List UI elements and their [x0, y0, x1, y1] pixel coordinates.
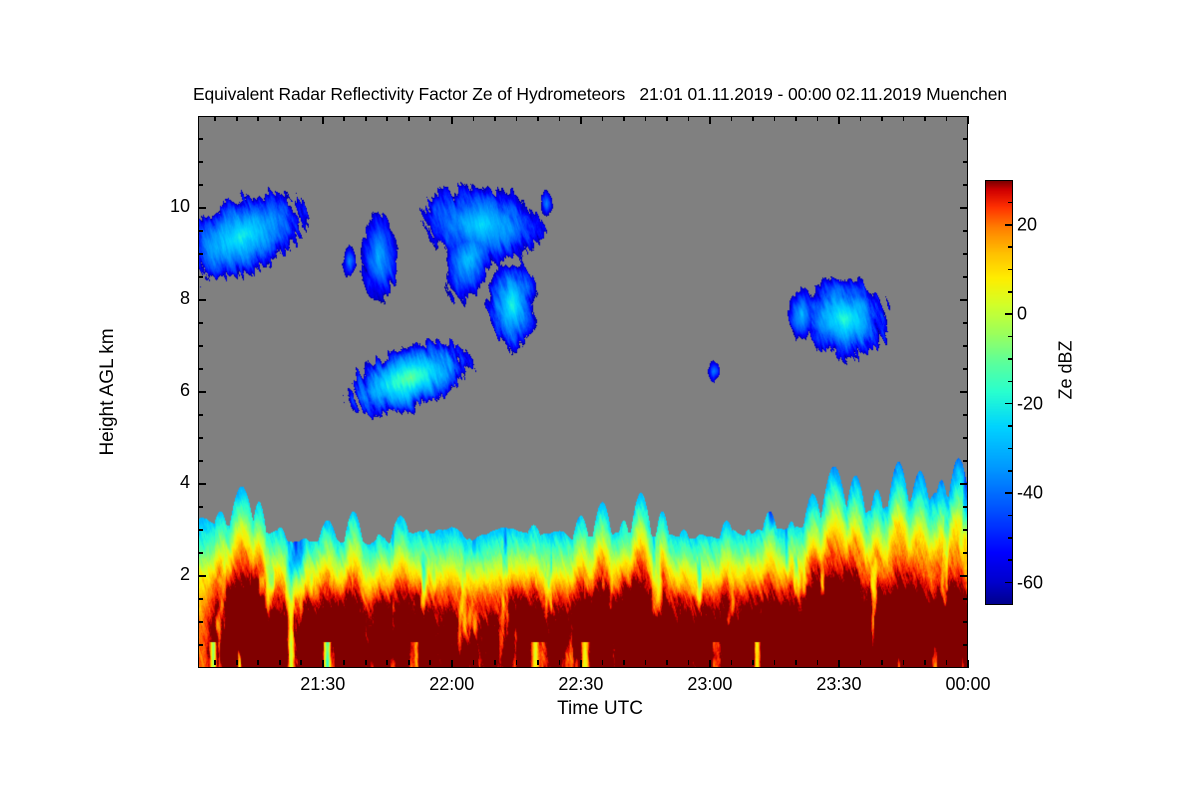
x-tick-minor [279, 660, 281, 665]
x-tick-minor-top [214, 116, 216, 121]
x-tick-major [709, 660, 711, 668]
y-tick-minor [198, 276, 203, 278]
x-tick-minor [688, 660, 690, 665]
colorbar-tick-minor [1008, 537, 1012, 539]
y-tick-major [198, 299, 206, 301]
x-tick-minor-top [752, 116, 754, 121]
y-tick-minor-right [963, 322, 968, 324]
x-tick-minor-top [494, 116, 496, 121]
y-tick-minor [198, 138, 203, 140]
x-tick-minor-top [666, 116, 668, 121]
colorbar-title: Ze dBZ [1056, 340, 1077, 399]
colorbar-tick-minor [1008, 202, 1012, 204]
y-tick-major-right [960, 575, 968, 577]
x-tick-minor-top [300, 116, 302, 121]
x-tick-minor [881, 660, 883, 665]
x-tick-major-top [322, 116, 324, 124]
x-tick-label: 23:30 [816, 674, 861, 695]
y-tick-major [198, 483, 206, 485]
y-tick-minor [198, 368, 203, 370]
x-tick-minor-top [386, 116, 388, 121]
x-tick-major-top [451, 116, 453, 124]
x-tick-minor-top [473, 116, 475, 121]
y-tick-minor-right [963, 230, 968, 232]
x-tick-minor [817, 660, 819, 665]
x-tick-major [580, 660, 582, 668]
x-tick-minor-top [408, 116, 410, 121]
y-tick-minor-right [963, 161, 968, 163]
y-tick-minor-right [963, 644, 968, 646]
x-tick-minor [774, 660, 776, 665]
y-tick-minor-right [963, 621, 968, 623]
x-tick-minor-top [645, 116, 647, 121]
x-tick-minor [559, 660, 561, 665]
colorbar-tick-label: -20 [1017, 393, 1043, 414]
y-tick-minor-right [963, 253, 968, 255]
x-tick-major-top [967, 116, 969, 124]
y-tick-major-right [960, 207, 968, 209]
x-axis-title: Time UTC [0, 698, 1200, 720]
x-tick-minor [429, 660, 431, 665]
y-tick-minor-right [963, 345, 968, 347]
x-tick-minor-top [817, 116, 819, 121]
y-tick-major-right [960, 391, 968, 393]
x-tick-major-top [838, 116, 840, 124]
x-tick-label: 00:00 [945, 674, 990, 695]
y-tick-minor-right [963, 184, 968, 186]
x-tick-minor [645, 660, 647, 665]
figure-root: Equivalent Radar Reflectivity Factor Ze … [0, 0, 1200, 800]
x-tick-minor [365, 660, 367, 665]
y-tick-minor [198, 529, 203, 531]
y-tick-minor [198, 322, 203, 324]
y-tick-major [198, 207, 206, 209]
x-tick-major-top [580, 116, 582, 124]
x-tick-minor-top [343, 116, 345, 121]
x-tick-minor-top [860, 116, 862, 121]
x-tick-minor-top [924, 116, 926, 121]
colorbar-tick-major [1005, 224, 1012, 226]
x-tick-minor-top [516, 116, 518, 121]
colorbar-tick-label: 20 [1017, 214, 1037, 235]
y-tick-minor [198, 437, 203, 439]
y-tick-minor [198, 460, 203, 462]
x-tick-major [322, 660, 324, 668]
colorbar-tick-minor [1008, 246, 1012, 248]
x-tick-minor-top [623, 116, 625, 121]
y-tick-minor [198, 230, 203, 232]
x-tick-minor [602, 660, 604, 665]
y-tick-minor-right [963, 460, 968, 462]
colorbar-tick-minor [1008, 448, 1012, 450]
x-tick-minor [666, 660, 668, 665]
colorbar-tick-minor [1008, 425, 1012, 427]
radar-heatmap-canvas [199, 117, 967, 667]
x-tick-minor [623, 660, 625, 665]
x-tick-major [967, 660, 969, 668]
colorbar-tick-minor [1008, 470, 1012, 472]
colorbar-tick-label: -60 [1017, 572, 1043, 593]
colorbar-gradient [986, 181, 1012, 604]
x-tick-minor-top [257, 116, 259, 121]
y-tick-minor [198, 644, 203, 646]
x-tick-minor-top [688, 116, 690, 121]
x-tick-minor-top [731, 116, 733, 121]
chart-title: Equivalent Radar Reflectivity Factor Ze … [0, 84, 1200, 105]
y-tick-minor-right [963, 276, 968, 278]
x-tick-minor-top [537, 116, 539, 121]
x-tick-minor [860, 660, 862, 665]
y-axis-title: Height AGL km [97, 328, 119, 455]
x-tick-minor [300, 660, 302, 665]
x-tick-minor [473, 660, 475, 665]
colorbar-tick-minor [1008, 336, 1012, 338]
x-tick-minor [924, 660, 926, 665]
y-tick-minor-right [963, 529, 968, 531]
colorbar-tick-major [1005, 403, 1012, 405]
y-tick-minor [198, 414, 203, 416]
colorbar-tick-minor [1008, 291, 1012, 293]
y-tick-minor-right [963, 138, 968, 140]
x-tick-label: 22:30 [558, 674, 603, 695]
plot-area[interactable] [198, 116, 968, 668]
y-tick-major [198, 391, 206, 393]
colorbar-tick-major [1005, 492, 1012, 494]
colorbar-tick-minor [1008, 381, 1012, 383]
colorbar-tick-minor [1008, 358, 1012, 360]
x-tick-minor [752, 660, 754, 665]
x-tick-major [451, 660, 453, 668]
x-tick-minor [408, 660, 410, 665]
x-tick-label: 23:00 [687, 674, 732, 695]
y-tick-minor [198, 161, 203, 163]
y-tick-major [198, 575, 206, 577]
x-tick-minor [494, 660, 496, 665]
x-tick-label: 21:30 [300, 674, 345, 695]
x-tick-minor [343, 660, 345, 665]
x-tick-minor-top [365, 116, 367, 121]
x-tick-minor [257, 660, 259, 665]
x-tick-minor-top [946, 116, 948, 121]
x-tick-minor [731, 660, 733, 665]
x-tick-minor-top [559, 116, 561, 121]
x-tick-minor [946, 660, 948, 665]
y-tick-label: 4 [180, 472, 190, 493]
colorbar-tick-major [1005, 313, 1012, 315]
y-tick-label: 8 [180, 288, 190, 309]
y-tick-label: 10 [170, 196, 190, 217]
y-tick-minor-right [963, 437, 968, 439]
colorbar-tick-label: 0 [1017, 304, 1027, 325]
colorbar-tick-major [1005, 582, 1012, 584]
y-tick-minor-right [963, 598, 968, 600]
y-tick-major-right [960, 483, 968, 485]
x-tick-minor [903, 660, 905, 665]
x-tick-minor [214, 660, 216, 665]
colorbar-tick-label: -40 [1017, 483, 1043, 504]
x-tick-minor-top [602, 116, 604, 121]
y-tick-minor [198, 184, 203, 186]
x-tick-minor [795, 660, 797, 665]
x-tick-minor-top [236, 116, 238, 121]
x-tick-major-top [709, 116, 711, 124]
y-tick-minor [198, 253, 203, 255]
x-tick-minor [537, 660, 539, 665]
y-tick-minor [198, 598, 203, 600]
colorbar[interactable] [985, 180, 1013, 605]
x-tick-major [838, 660, 840, 668]
y-tick-minor [198, 552, 203, 554]
x-tick-minor [516, 660, 518, 665]
y-tick-minor [198, 506, 203, 508]
colorbar-tick-minor [1008, 559, 1012, 561]
y-tick-minor-right [963, 368, 968, 370]
y-tick-label: 2 [180, 564, 190, 585]
x-tick-minor-top [903, 116, 905, 121]
y-tick-major-right [960, 299, 968, 301]
x-tick-label: 22:00 [429, 674, 474, 695]
x-tick-minor-top [795, 116, 797, 121]
colorbar-tick-minor [1008, 515, 1012, 517]
y-tick-minor [198, 345, 203, 347]
x-tick-minor-top [774, 116, 776, 121]
x-tick-minor [386, 660, 388, 665]
colorbar-tick-minor [1008, 269, 1012, 271]
y-tick-minor-right [963, 506, 968, 508]
x-tick-minor-top [429, 116, 431, 121]
y-tick-minor-right [963, 414, 968, 416]
y-tick-minor-right [963, 552, 968, 554]
y-tick-label: 6 [180, 380, 190, 401]
x-tick-minor [236, 660, 238, 665]
x-tick-minor-top [881, 116, 883, 121]
x-tick-minor-top [279, 116, 281, 121]
y-tick-minor [198, 621, 203, 623]
